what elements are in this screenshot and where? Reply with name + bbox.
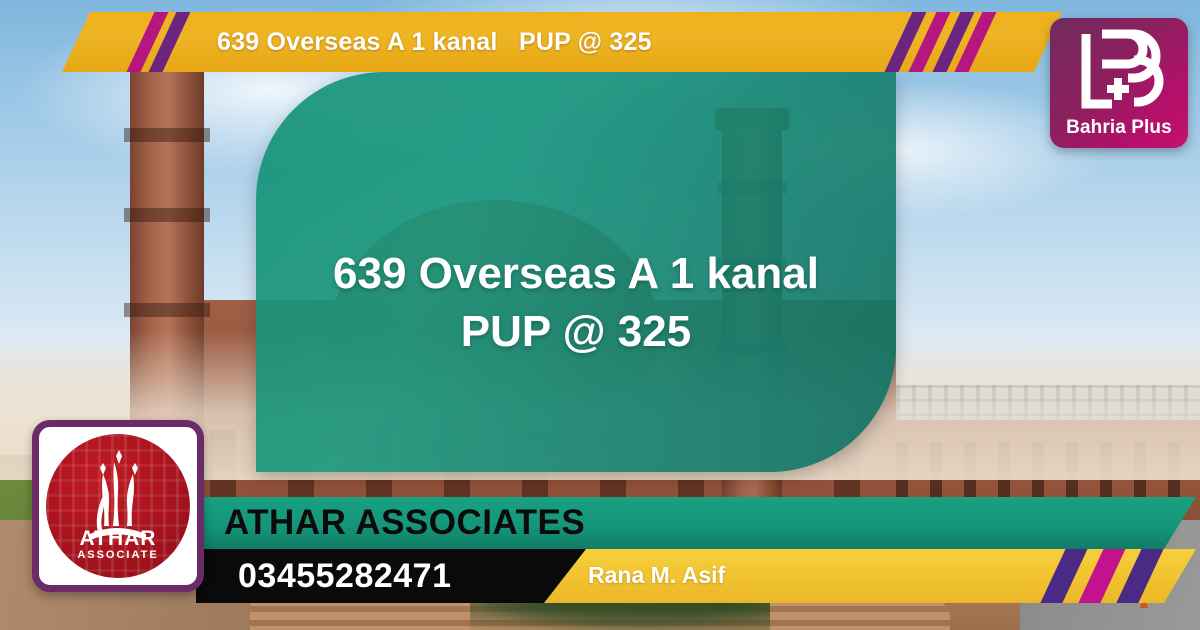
top-ribbon-title-wrap: 639 Overseas A 1 kanal PUP @ 325 (62, 12, 1062, 72)
company-name: ATHAR ASSOCIATES (224, 503, 585, 543)
headline-line-1: 639 Overseas A 1 kanal (333, 247, 819, 301)
athar-associates-logo: ATHAR ASSOCIATE (32, 420, 204, 592)
bahria-plus-logo: Bahria Plus (1050, 18, 1188, 148)
headline-line-2: PUP @ 325 (461, 305, 691, 359)
company-bar: ATHAR ASSOCIATES (196, 497, 1196, 549)
phone-bar[interactable]: 03455282471 (196, 549, 586, 603)
bahria-plus-monogram-icon (1072, 26, 1168, 118)
bahria-plus-brand-text: Bahria Plus (1050, 117, 1188, 139)
athar-logo-subtitle: ASSOCIATE (46, 549, 190, 561)
top-ribbon-title: 639 Overseas A 1 kanal PUP @ 325 (217, 28, 652, 57)
agent-name: Rana M. Asif (588, 562, 725, 589)
headline-text: 639 Overseas A 1 kanal PUP @ 325 (256, 72, 896, 472)
athar-logo-name: ATHAR (46, 527, 190, 551)
phone-number[interactable]: 03455282471 (238, 557, 452, 596)
banner-stage: 639 Overseas A 1 kanal PUP @ 325 639 Ove… (0, 0, 1200, 630)
